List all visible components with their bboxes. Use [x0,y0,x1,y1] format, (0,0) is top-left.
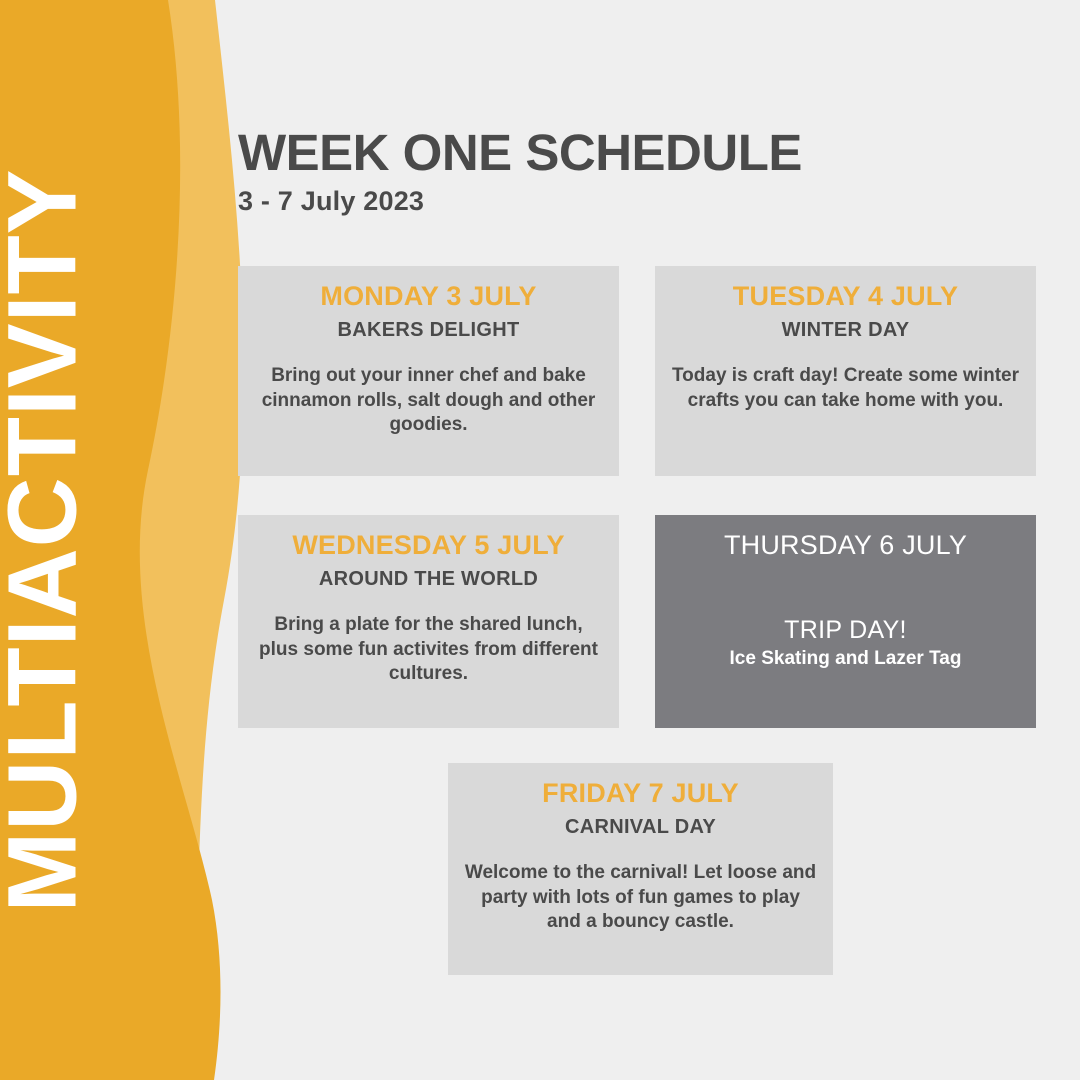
page-date-range: 3 - 7 July 2023 [238,186,1038,217]
page-title: WEEK ONE SCHEDULE [238,126,1038,180]
schedule-card-friday[interactable]: FRIDAY 7 JULY CARNIVAL DAY Welcome to th… [448,763,833,975]
schedule-card-thursday[interactable]: THURSDAY 6 JULY TRIP DAY! Ice Skating an… [655,515,1036,728]
card-description: Welcome to the carnival! Let loose and p… [464,861,817,934]
card-day-label: THURSDAY 6 JULY [671,529,1020,561]
card-day-label: TUESDAY 4 JULY [671,280,1020,312]
card-theme-label: AROUND THE WORLD [254,567,603,591]
brand-blob-shapes [0,0,260,1080]
card-description: Bring a plate for the shared lunch, plus… [254,613,603,686]
card-description: Today is craft day! Create some winter c… [671,364,1020,413]
card-description: Bring out your inner chef and bake cinna… [254,364,603,437]
card-day-label: FRIDAY 7 JULY [464,777,817,809]
card-theme-label: WINTER DAY [671,318,1020,342]
card-theme-label: CARNIVAL DAY [464,815,817,839]
card-day-label: WEDNESDAY 5 JULY [254,529,603,561]
brand-panel: MULTIACTIVITY [0,0,260,1080]
card-theme-label: BAKERS DELIGHT [254,318,603,342]
card-theme-label: TRIP DAY! [671,615,1020,645]
card-description: Ice Skating and Lazer Tag [671,647,1020,671]
schedule-card-tuesday[interactable]: TUESDAY 4 JULY WINTER DAY Today is craft… [655,266,1036,476]
header: WEEK ONE SCHEDULE 3 - 7 July 2023 [238,126,1038,217]
card-day-label: MONDAY 3 JULY [254,280,603,312]
schedule-card-wednesday[interactable]: WEDNESDAY 5 JULY AROUND THE WORLD Bring … [238,515,619,728]
schedule-card-monday[interactable]: MONDAY 3 JULY BAKERS DELIGHT Bring out y… [238,266,619,476]
